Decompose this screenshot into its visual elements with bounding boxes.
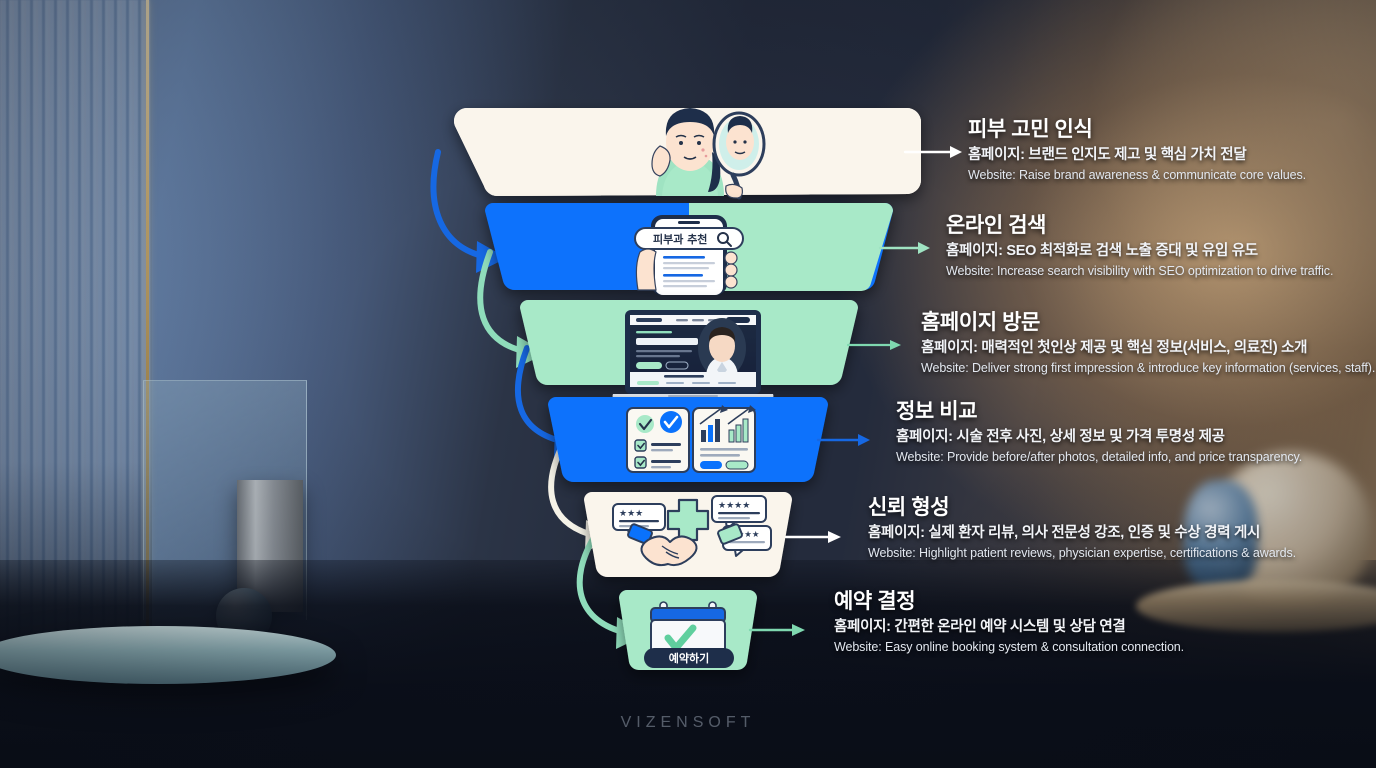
stage-4-english-desc: Website: Provide before/after photos, de… <box>896 449 1302 465</box>
stage-5-title: 신뢰 형성 <box>868 496 1296 520</box>
stage-2-english-desc: Website: Increase search visibility with… <box>946 263 1333 279</box>
stage-4-title: 정보 비교 <box>896 400 1302 424</box>
stage-3-english-desc: Website: Deliver strong first impression… <box>921 360 1375 376</box>
stage-5-korean-desc: 홈페이지: 실제 환자 리뷰, 의사 전문성 강조, 인증 및 수상 경력 게시 <box>868 524 1296 543</box>
stage-1-title: 피부 고민 인식 <box>968 118 1306 142</box>
stage-labels: 피부 고민 인식 홈페이지: 브랜드 인지도 제고 및 핵심 가치 전달 Web… <box>0 0 1376 768</box>
stage-label-1: 피부 고민 인식 홈페이지: 브랜드 인지도 제고 및 핵심 가치 전달 Web… <box>968 118 1306 183</box>
stage-3-title: 홈페이지 방문 <box>921 311 1375 335</box>
stage-5-english-desc: Website: Highlight patient reviews, phys… <box>868 545 1296 561</box>
stage-label-4: 정보 비교 홈페이지: 시술 전후 사진, 상세 정보 및 가격 투명성 제공 … <box>896 400 1302 465</box>
stage-6-korean-desc: 홈페이지: 간편한 온라인 예약 시스템 및 상담 연결 <box>834 618 1184 637</box>
stage-1-korean-desc: 홈페이지: 브랜드 인지도 제고 및 핵심 가치 전달 <box>968 146 1306 165</box>
stage-6-title: 예약 결정 <box>834 590 1184 614</box>
stage-1-english-desc: Website: Raise brand awareness & communi… <box>968 167 1306 183</box>
stage-6-english-desc: Website: Easy online booking system & co… <box>834 639 1184 655</box>
stage-label-6: 예약 결정 홈페이지: 간편한 온라인 예약 시스템 및 상담 연결 Websi… <box>834 590 1184 655</box>
stage-3-korean-desc: 홈페이지: 매력적인 첫인상 제공 및 핵심 정보(서비스, 의료진) 소개 <box>921 339 1375 358</box>
infographic-canvas: 피부과 추천 <box>0 0 1376 768</box>
stage-label-5: 신뢰 형성 홈페이지: 실제 환자 리뷰, 의사 전문성 강조, 인증 및 수상… <box>868 496 1296 561</box>
brand-watermark: VIZENSOFT <box>0 714 1376 732</box>
stage-label-3: 홈페이지 방문 홈페이지: 매력적인 첫인상 제공 및 핵심 정보(서비스, 의… <box>921 311 1375 376</box>
stage-2-title: 온라인 검색 <box>946 214 1333 238</box>
stage-4-korean-desc: 홈페이지: 시술 전후 사진, 상세 정보 및 가격 투명성 제공 <box>896 428 1302 447</box>
stage-label-2: 온라인 검색 홈페이지: SEO 최적화로 검색 노출 증대 및 유입 유도 W… <box>946 214 1333 279</box>
stage-2-korean-desc: 홈페이지: SEO 최적화로 검색 노출 증대 및 유입 유도 <box>946 242 1333 261</box>
